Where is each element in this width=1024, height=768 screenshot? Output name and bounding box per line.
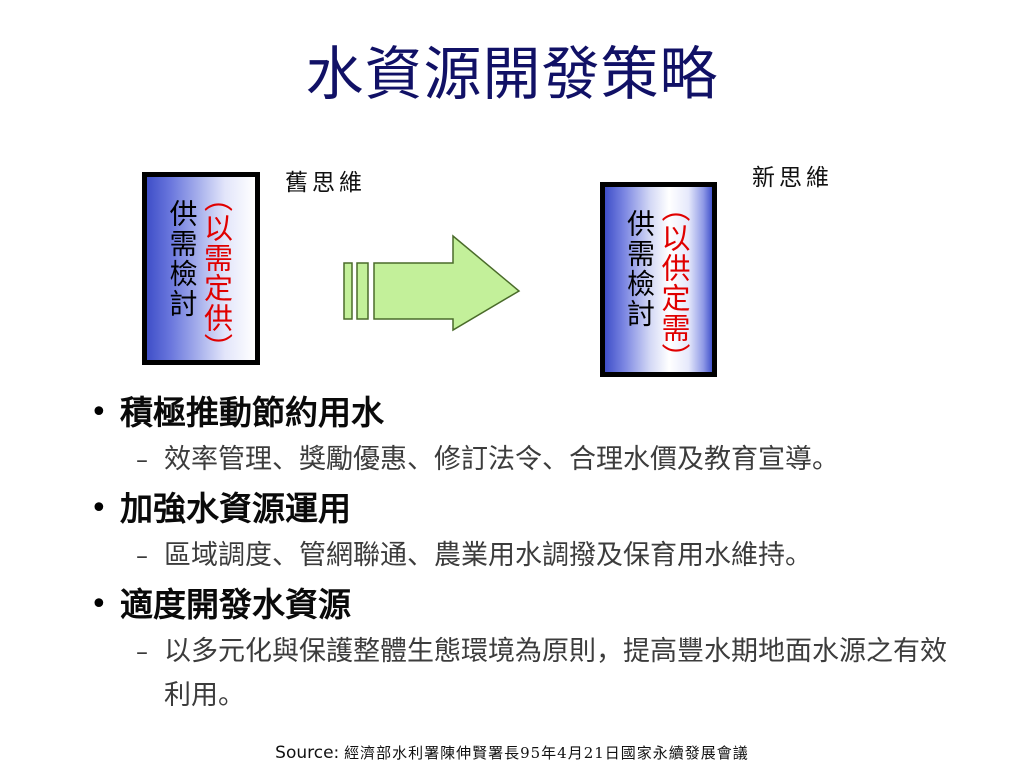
bullet-text-3: 適度開發水資源	[120, 580, 351, 630]
sub-text-3: 以多元化與保護整體生態環境為原則，提高豐水期地面水源之有效利用。	[164, 630, 954, 718]
bullet-item-2: • 加強水資源運用	[84, 484, 984, 534]
old-box-black-text: 供需檢討	[168, 199, 196, 319]
old-thinking-label: 舊思維	[285, 163, 366, 197]
source-footer: Source: 經濟部水利署陳伸賢署長95年4月21日國家永續發展會議	[0, 742, 1024, 763]
source-value: 經濟部水利署陳伸賢署長95年4月21日國家永續發展會議	[344, 744, 749, 762]
new-thinking-box: （以供定需） 供需檢討	[600, 182, 717, 377]
bullet-item-1: • 積極推動節約用水	[84, 388, 984, 438]
dash-marker-icon: –	[136, 438, 164, 482]
sub-text-1: 效率管理、獎勵優惠、修訂法令、合理水價及教育宣導。	[164, 438, 839, 482]
right-arrow-icon	[343, 233, 523, 333]
sub-item-1: – 效率管理、獎勵優惠、修訂法令、合理水價及教育宣導。	[84, 438, 984, 482]
bullet-marker-icon: •	[84, 388, 120, 438]
bullet-item-3: • 適度開發水資源	[84, 580, 984, 630]
bullet-group-3: • 適度開發水資源 – 以多元化與保護整體生態環境為原則，提高豐水期地面水源之有…	[84, 580, 984, 718]
bullet-text-2: 加強水資源運用	[120, 484, 351, 534]
transition-arrow	[343, 233, 523, 333]
dash-marker-icon: –	[136, 630, 164, 674]
source-label: Source:	[275, 743, 339, 763]
bullet-list: • 積極推動節約用水 – 效率管理、獎勵優惠、修訂法令、合理水價及教育宣導。 •…	[84, 388, 984, 720]
sub-item-3: – 以多元化與保護整體生態環境為原則，提高豐水期地面水源之有效利用。	[84, 630, 984, 718]
bullet-group-1: • 積極推動節約用水 – 效率管理、獎勵優惠、修訂法令、合理水價及教育宣導。	[84, 388, 984, 482]
old-thinking-box: （以需定供） 供需檢討	[142, 172, 260, 365]
bullet-marker-icon: •	[84, 484, 120, 534]
new-box-gradient: （以供定需） 供需檢討	[605, 187, 712, 372]
old-box-gradient: （以需定供） 供需檢討	[147, 177, 255, 360]
page-title: 水資源開發策略	[0, 44, 1024, 105]
bullet-text-1: 積極推動節約用水	[120, 388, 384, 438]
old-box-red-text: （以需定供）	[202, 183, 231, 363]
bullet-group-2: • 加強水資源運用 – 區域調度、管網聯通、農業用水調撥及保育用水維持。	[84, 484, 984, 578]
bullet-marker-icon: •	[84, 580, 120, 630]
new-thinking-label: 新思維	[752, 158, 833, 192]
new-box-black-text: 供需檢討	[625, 209, 653, 329]
sub-item-2: – 區域調度、管網聯通、農業用水調撥及保育用水維持。	[84, 534, 984, 578]
dash-marker-icon: –	[136, 534, 164, 578]
sub-text-2: 區域調度、管網聯通、農業用水調撥及保育用水維持。	[164, 534, 812, 578]
new-box-red-text: （以供定需）	[659, 193, 688, 373]
